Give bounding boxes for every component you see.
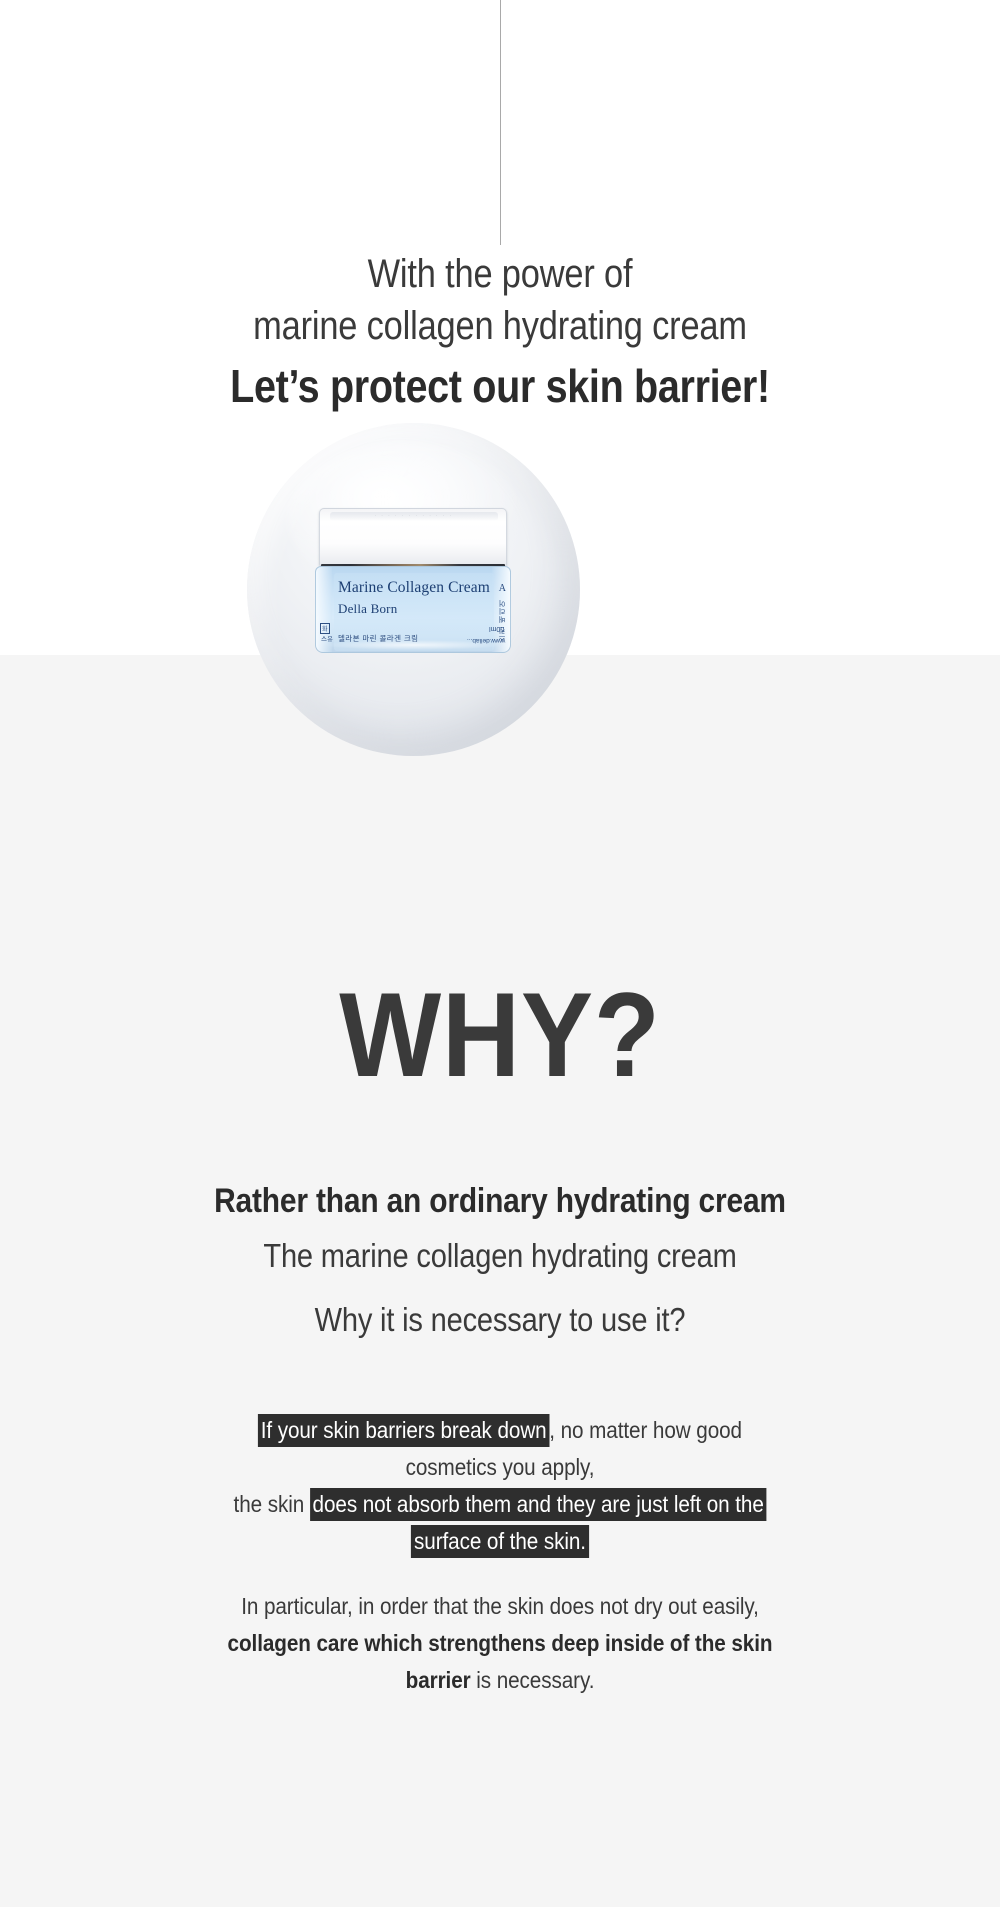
final-row-3-bold: barrier	[406, 1667, 471, 1693]
product-detail-page: With the power of marine collagen hydrat…	[0, 0, 1000, 1907]
intro-heading-block: With the power of marine collagen hydrat…	[0, 248, 1000, 420]
intro-headline: Let’s protect our skin barrier!	[70, 352, 930, 420]
vertical-divider-line	[500, 0, 501, 245]
reason-bold-line: Rather than an ordinary hydrating cream	[60, 1178, 940, 1224]
highlighted-paragraph: If your skin barriers break down, no mat…	[0, 1412, 1000, 1560]
highlight-row-2: cosmetics you apply,	[50, 1449, 950, 1486]
final-row-2: collagen care which strengthens deep ins…	[50, 1625, 950, 1662]
reason-line-1: The marine collagen hydrating cream	[60, 1224, 940, 1288]
jar-volume-label: 50ml	[489, 625, 504, 632]
final-row-2-bold: collagen care which strengthens deep ins…	[228, 1630, 773, 1656]
jar-brand-name: Della Born	[338, 601, 397, 617]
reason-block: Rather than an ordinary hydrating cream …	[0, 1178, 1000, 1352]
jar-side-text: 스킨 배리어	[498, 599, 508, 642]
jar-lid: · · · · · · · · · · · ·	[319, 508, 507, 566]
jar-body: Marine Collagen Cream Della Born 델라본 마린 …	[315, 566, 511, 653]
final-row-1: In particular, in order that the skin do…	[50, 1588, 950, 1625]
highlight-mark-3: surface of the skin.	[411, 1525, 588, 1558]
highlight-row-1-rest: , no matter how good	[549, 1417, 742, 1443]
final-row-3-rest: is necessary.	[471, 1667, 595, 1693]
highlight-mark-1: If your skin barriers break down	[258, 1414, 549, 1447]
reason-line-2: Why it is necessary to use it?	[60, 1288, 940, 1352]
intro-line-2: marine collagen hydrating cream	[70, 300, 930, 352]
jar-side-letter: A	[499, 583, 506, 594]
final-paragraph: In particular, in order that the skin do…	[0, 1588, 1000, 1699]
highlight-row-3: the skin does not absorb them and they a…	[50, 1486, 950, 1523]
highlight-row-4: surface of the skin.	[50, 1523, 950, 1560]
jar-lid-emboss-text: · · · · · · · · · · · ·	[354, 513, 474, 519]
highlight-row-3-plain: the skin	[234, 1491, 310, 1517]
jar-product-title: Marine Collagen Cream	[338, 579, 490, 597]
intro-line-1: With the power of	[70, 248, 930, 300]
product-image: · · · · · · · · · · · · Marine Collagen …	[247, 423, 580, 756]
final-row-3: barrier is necessary.	[50, 1662, 950, 1699]
jar-bottom-highlight	[326, 640, 502, 650]
highlight-mark-2: does not absorb them and they are just l…	[310, 1488, 767, 1521]
highlight-row-1: If your skin barriers break down, no mat…	[50, 1412, 950, 1449]
cream-jar: · · · · · · · · · · · · Marine Collagen …	[315, 508, 511, 653]
why-heading: WHY?	[50, 975, 950, 1095]
